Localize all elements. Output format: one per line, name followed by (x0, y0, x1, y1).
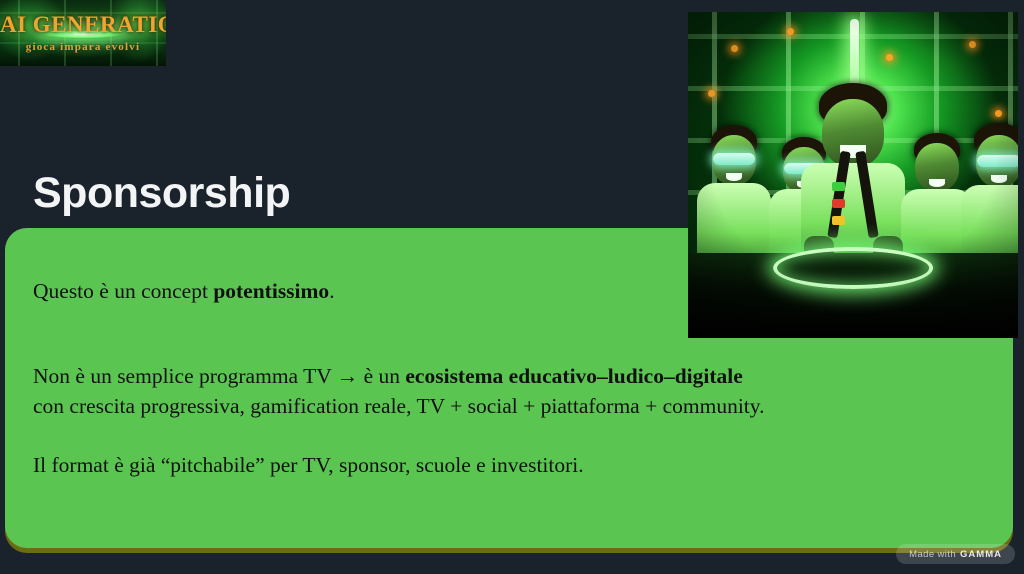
logo-brand-text: AI GENERATION (0, 12, 166, 38)
page-title: Sponsorship (33, 172, 290, 215)
paragraph-pitchable: Il format è già “pitchabile” per TV, spo… (33, 450, 943, 481)
slide-canvas: AI GENERATION gioca impara evolvi Sponso… (0, 0, 1024, 574)
photo-vignette (688, 12, 1018, 338)
logo-tagline-text: gioca impara evolvi (0, 41, 166, 53)
made-with-gamma-badge[interactable]: Made with GAMMA (896, 544, 1015, 564)
paragraph-ecosystem-emphasis: ecosistema educativo–ludico–digitale (405, 364, 742, 388)
paragraph-concept-suffix: . (329, 279, 334, 303)
paragraph-concept-emphasis: potentissimo (213, 279, 329, 303)
paragraph-ecosystem-line2: con crescita progressiva, gamification r… (33, 394, 765, 418)
badge-prefix-text: Made with (909, 549, 956, 560)
hero-photo (688, 12, 1018, 338)
paragraph-concept-prefix: Questo è un concept (33, 279, 213, 303)
badge-brand-text: GAMMA (960, 549, 1002, 560)
photo-scene (688, 12, 1018, 338)
brand-logo: AI GENERATION gioca impara evolvi (0, 0, 166, 66)
paragraph-ecosystem-prefix: Non è un semplice programma TV → è un (33, 364, 405, 388)
paragraph-ecosystem: Non è un semplice programma TV → è un ec… (33, 361, 943, 422)
